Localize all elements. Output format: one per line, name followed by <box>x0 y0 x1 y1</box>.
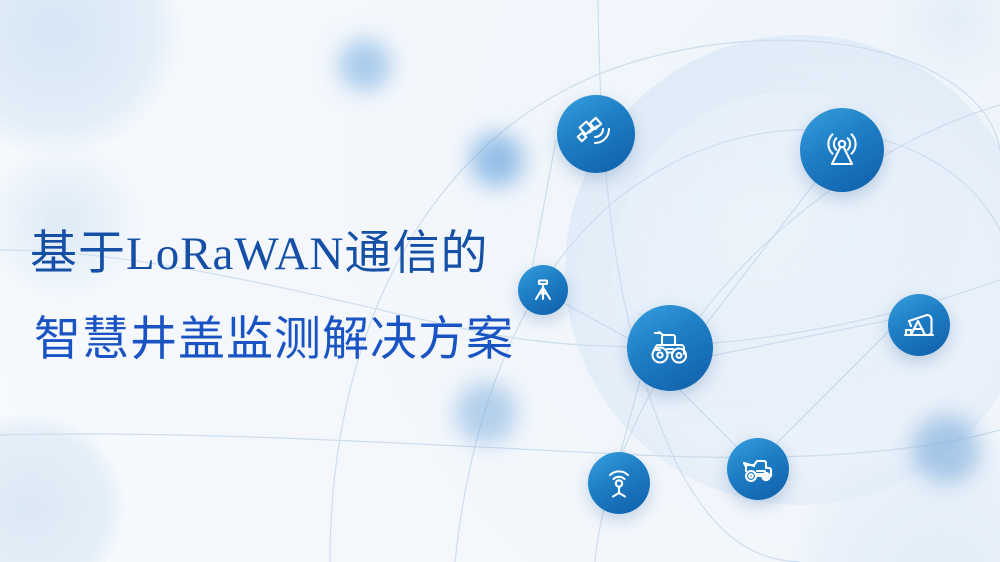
accent-dot-3 <box>455 382 517 444</box>
title-slide: 基于LoRaWAN通信的 智慧井盖监测解决方案 <box>0 0 1000 562</box>
satellite-dish-icon <box>575 113 617 155</box>
harvester-icon <box>740 451 776 487</box>
node-satellite[interactable] <box>557 95 635 173</box>
bottom-left-blob <box>0 415 123 562</box>
node-harvester[interactable] <box>727 438 789 500</box>
node-wifi-sensor[interactable] <box>588 452 650 514</box>
node-tractor[interactable] <box>627 305 713 391</box>
radio-tower-icon <box>819 127 865 173</box>
accent-dot-1 <box>339 39 391 91</box>
title-line-2: 智慧井盖监测解决方案 <box>30 308 590 372</box>
tractor-icon <box>646 324 694 372</box>
title-block: 基于LoRaWAN通信的 智慧井盖监测解决方案 <box>30 222 590 372</box>
title-line-1: 基于LoRaWAN通信的 <box>30 222 590 286</box>
oil-pumpjack-icon <box>901 307 937 343</box>
wifi-sensor-icon <box>602 466 636 500</box>
top-left-blob <box>0 0 180 155</box>
accent-dot-2 <box>470 133 524 187</box>
node-oil-pump[interactable] <box>888 294 950 356</box>
globe-inner-highlight <box>612 92 972 452</box>
node-radio-tower[interactable] <box>800 108 884 192</box>
